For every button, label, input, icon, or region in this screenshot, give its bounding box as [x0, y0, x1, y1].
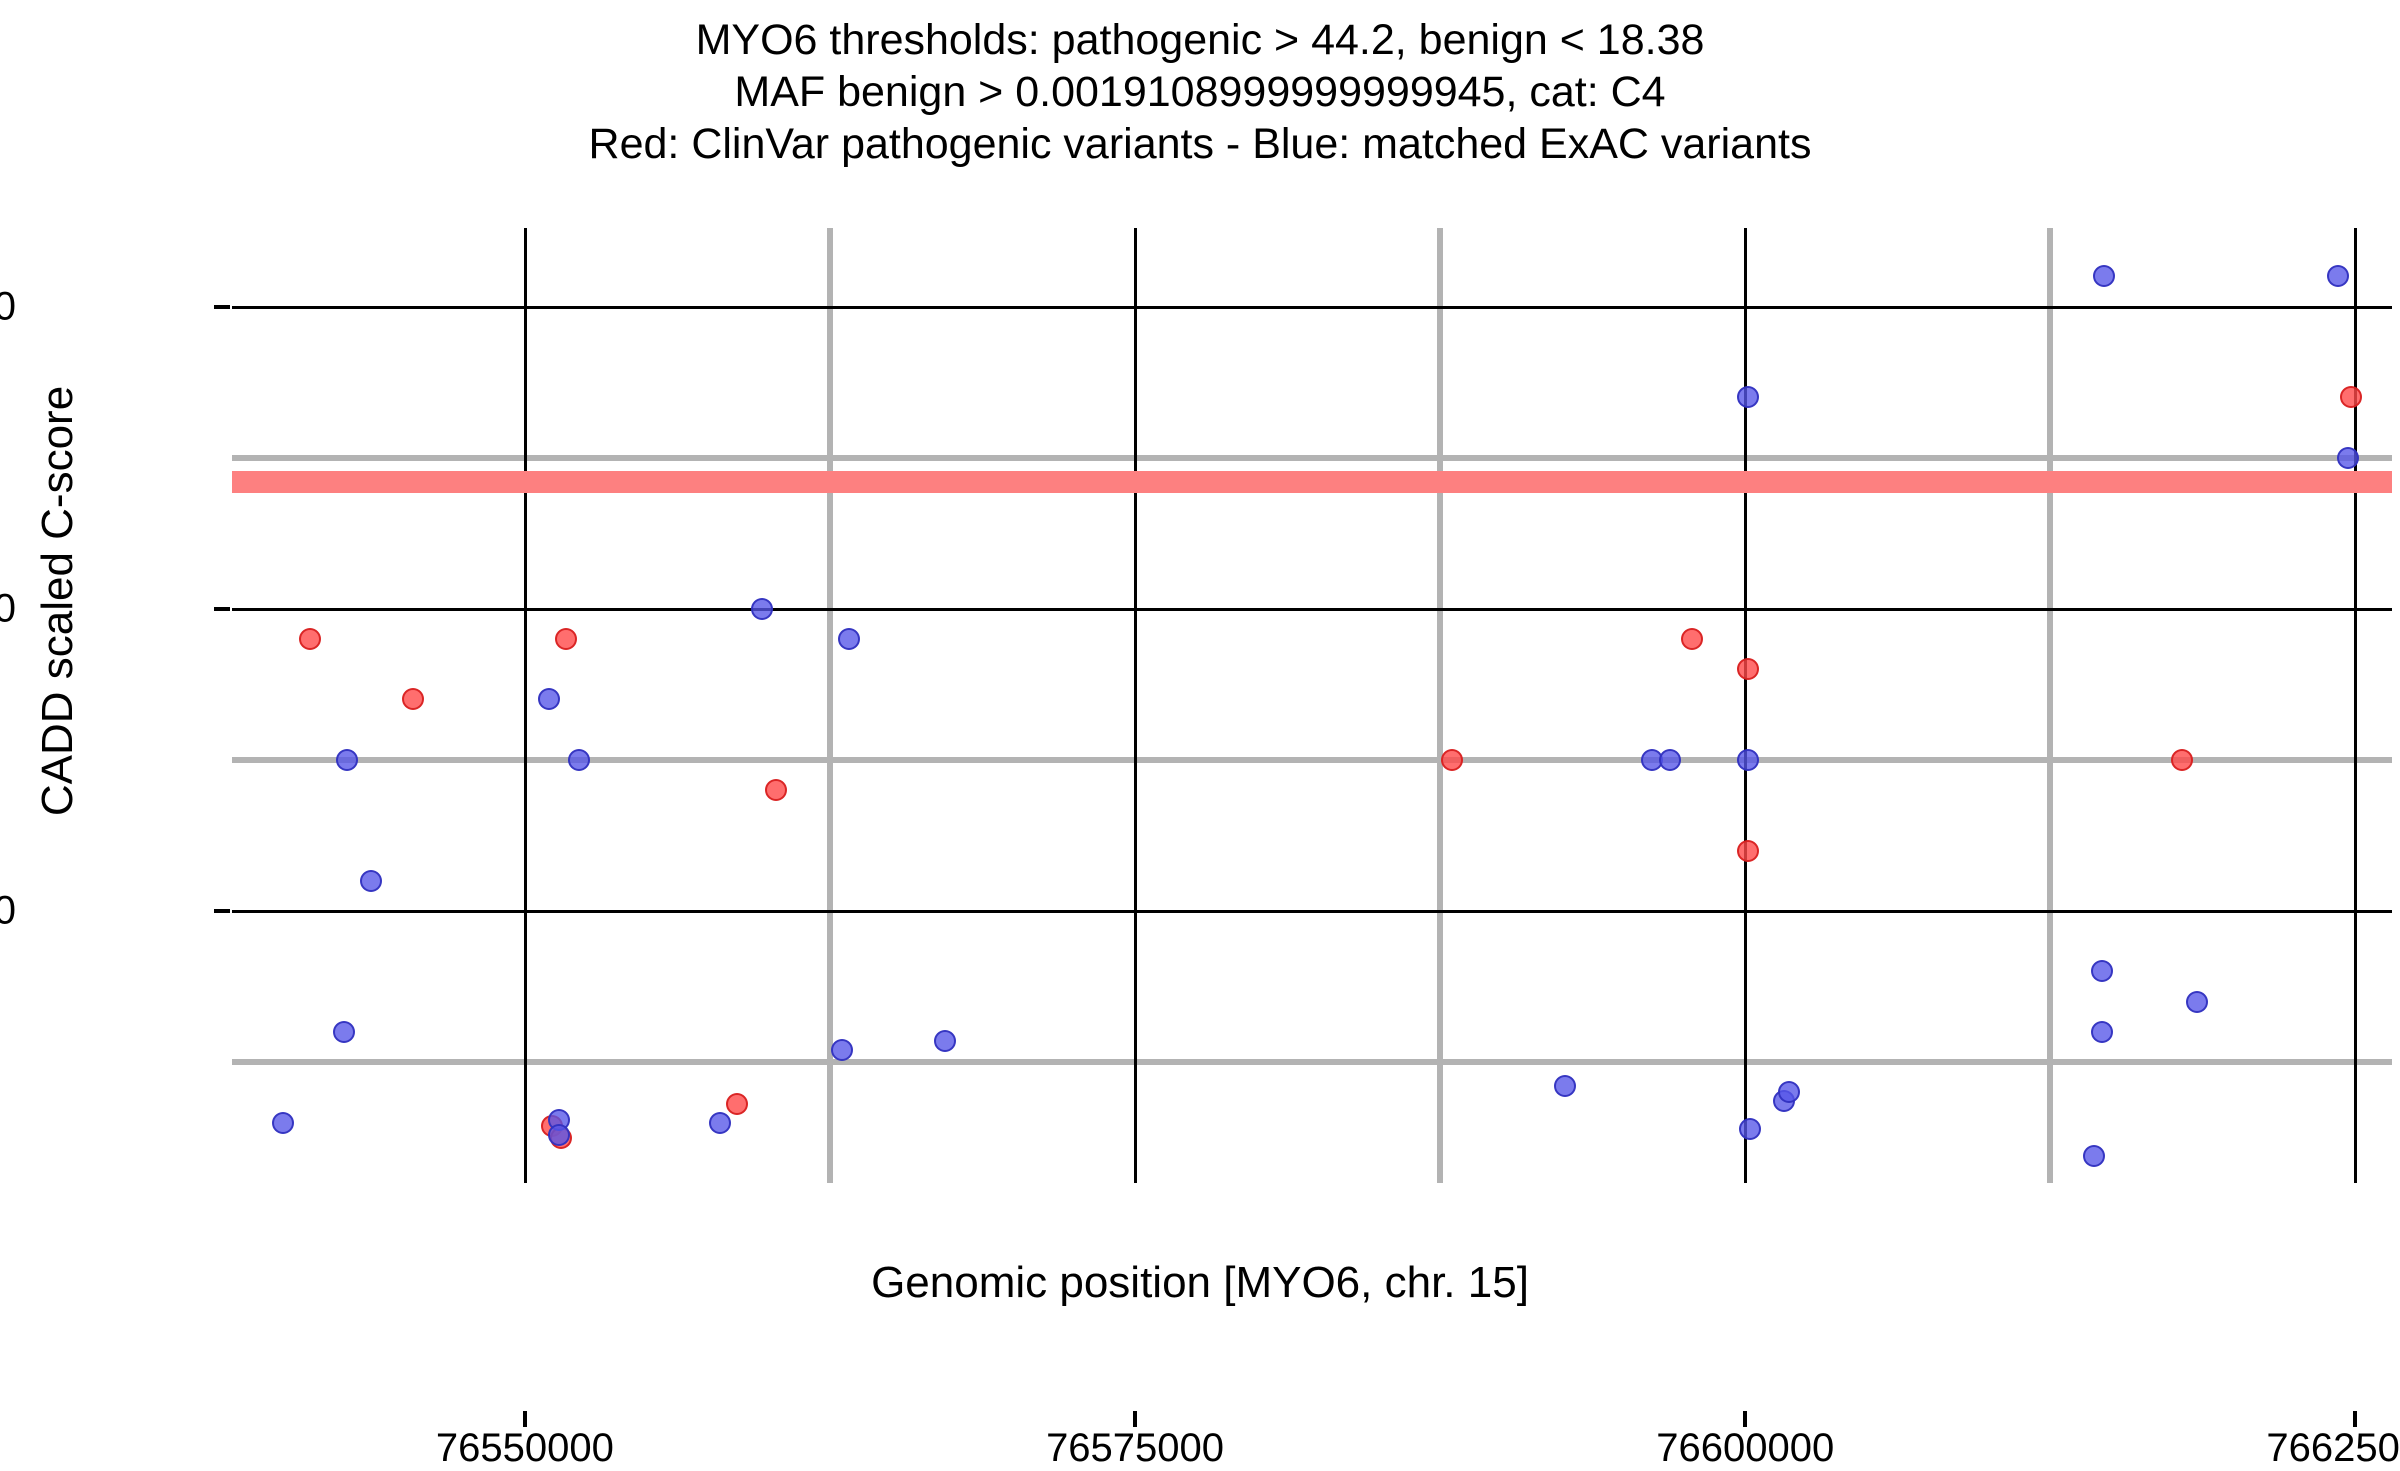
data-point-exac	[360, 870, 382, 892]
data-point-exac	[1554, 1075, 1576, 1097]
data-point-pathogenic	[1737, 658, 1759, 680]
y-tick-label: 40	[0, 586, 16, 631]
x-tick-label: 76625000	[2266, 1426, 2400, 1471]
gridline-minor-vertical	[1437, 228, 1443, 1183]
x-tick-mark	[523, 1411, 527, 1427]
data-point-exac	[568, 749, 590, 771]
gridline-minor-horizontal	[232, 1059, 2392, 1065]
x-tick-label: 76550000	[436, 1426, 614, 1471]
x-tick-mark	[1133, 1411, 1137, 1427]
data-point-exac	[934, 1030, 956, 1052]
data-point-exac	[1737, 386, 1759, 408]
data-point-exac	[333, 1021, 355, 1043]
data-point-pathogenic	[2340, 386, 2362, 408]
data-point-exac	[2091, 1021, 2113, 1043]
gridline-minor-vertical	[2047, 228, 2053, 1183]
title-line-1: MYO6 thresholds: pathogenic > 44.2, beni…	[0, 14, 2400, 66]
data-point-exac	[2083, 1145, 2105, 1167]
gridline-minor-horizontal	[232, 455, 2392, 461]
x-tick-label: 76600000	[1656, 1426, 1834, 1471]
chart-root: MYO6 thresholds: pathogenic > 44.2, beni…	[0, 0, 2400, 1350]
y-tick-label: 50	[0, 284, 16, 329]
data-point-exac	[336, 749, 358, 771]
plot-panel: 304050 76550000765750007660000076625000	[232, 228, 2392, 1183]
x-tick-label: 76575000	[1046, 1426, 1224, 1471]
gridline-major-vertical	[1134, 228, 1137, 1183]
data-point-pathogenic	[1681, 628, 1703, 650]
gridline-minor-vertical	[827, 228, 833, 1183]
data-point-exac	[709, 1112, 731, 1134]
gridline-minor-horizontal	[232, 757, 2392, 763]
data-point-exac	[2186, 991, 2208, 1013]
data-point-exac	[1659, 749, 1681, 771]
x-tick-mark	[1743, 1411, 1747, 1427]
data-point-pathogenic	[1737, 840, 1759, 862]
data-point-pathogenic	[2171, 749, 2193, 771]
y-tick-mark	[214, 305, 230, 309]
gridline-major-vertical	[524, 228, 527, 1183]
data-point-exac	[751, 598, 773, 620]
y-tick-mark	[214, 909, 230, 913]
data-point-exac	[2327, 265, 2349, 287]
data-point-exac	[538, 688, 560, 710]
data-point-exac	[1778, 1081, 1800, 1103]
data-point-pathogenic	[402, 688, 424, 710]
pathogenic-threshold-band	[232, 471, 2392, 493]
data-point-exac	[272, 1112, 294, 1134]
data-point-exac	[2093, 265, 2115, 287]
chart-title: MYO6 thresholds: pathogenic > 44.2, beni…	[0, 14, 2400, 170]
gridline-major-horizontal	[232, 910, 2392, 913]
data-point-exac	[838, 628, 860, 650]
data-point-exac	[2091, 960, 2113, 982]
data-point-pathogenic	[555, 628, 577, 650]
data-point-exac	[1739, 1118, 1761, 1140]
x-tick-mark	[2353, 1411, 2357, 1427]
data-point-exac	[831, 1039, 853, 1061]
data-point-exac	[2337, 447, 2359, 469]
gridline-major-horizontal	[232, 306, 2392, 309]
gridline-major-vertical	[1744, 228, 1747, 1183]
gridline-major-horizontal	[232, 608, 2392, 611]
gridline-major-vertical	[2354, 228, 2357, 1183]
y-tick-mark	[214, 607, 230, 611]
data-point-exac	[548, 1124, 570, 1146]
data-point-pathogenic	[1441, 749, 1463, 771]
title-line-2: MAF benign > 0.0019108999999999945, cat:…	[0, 66, 2400, 118]
y-tick-label: 30	[0, 889, 16, 934]
data-point-pathogenic	[765, 779, 787, 801]
x-axis-title: Genomic position [MYO6, chr. 15]	[0, 1258, 2400, 1308]
data-point-exac	[1737, 749, 1759, 771]
y-axis-title: CADD scaled C-score	[33, 221, 83, 981]
data-point-pathogenic	[726, 1093, 748, 1115]
title-line-3: Red: ClinVar pathogenic variants - Blue:…	[0, 118, 2400, 170]
data-point-pathogenic	[299, 628, 321, 650]
